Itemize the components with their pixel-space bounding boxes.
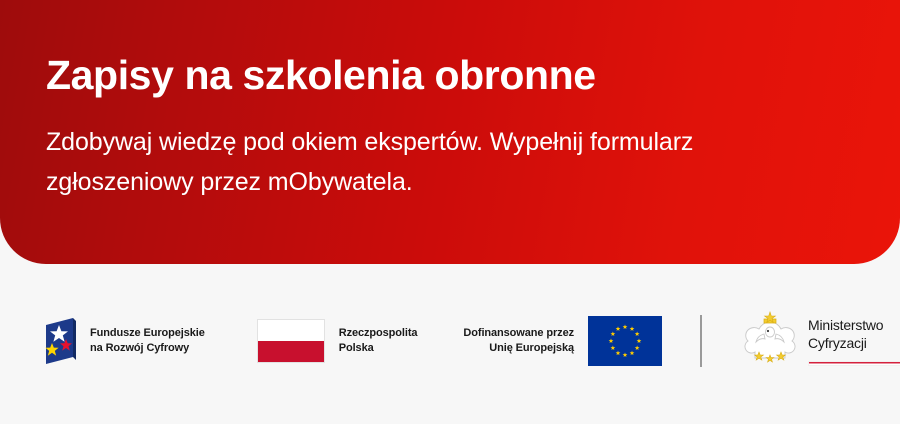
fundusze-europejskie-flag-icon xyxy=(40,316,78,366)
ministry-line2: Cyfryzacji xyxy=(808,334,900,352)
unia-caption: Dofinansowane przez Unię Europejską xyxy=(463,326,574,356)
hero-banner: Zapisy na szkolenia obronne Zdobywaj wie… xyxy=(0,0,900,264)
logo-ministerstwo-cyfryzacji: Ministerstwo Cyfryzacji xyxy=(742,310,900,372)
poland-flag-icon xyxy=(257,319,325,363)
fundusze-line1: Fundusze Europejskie xyxy=(90,326,205,341)
logo-rzeczpospolita-polska: Rzeczpospolita Polska xyxy=(257,310,418,372)
funding-logo-strip: Fundusze Europejskie na Rozwój Cyfrowy R… xyxy=(0,264,900,424)
promo-banner-page: Zapisy na szkolenia obronne Zdobywaj wie… xyxy=(0,0,900,424)
poland-flag-red-stripe xyxy=(258,341,324,362)
fundusze-caption: Fundusze Europejskie na Rozwój Cyfrowy xyxy=(90,326,205,356)
logo-divider xyxy=(700,315,702,367)
hero-subtitle: Zdobywaj wiedzę pod okiem ekspertów. Wyp… xyxy=(46,122,746,202)
rzeczpospolita-line2: Polska xyxy=(339,341,418,356)
rzeczpospolita-caption: Rzeczpospolita Polska xyxy=(339,326,418,356)
ministry-line1: Ministerstwo xyxy=(808,316,900,334)
logo-row: Fundusze Europejskie na Rozwój Cyfrowy R… xyxy=(40,310,900,372)
hero-content: Zapisy na szkolenia obronne Zdobywaj wie… xyxy=(46,50,786,202)
fundusze-line2: na Rozwój Cyfrowy xyxy=(90,341,205,356)
logo-unia-europejska: Dofinansowane przez Unię Europejską xyxy=(463,310,662,372)
logo-fundusze-europejskie: Fundusze Europejskie na Rozwój Cyfrowy xyxy=(40,310,205,372)
unia-line1: Dofinansowane przez xyxy=(463,326,574,341)
european-union-flag-icon xyxy=(588,316,662,366)
hero-title: Zapisy na szkolenia obronne xyxy=(46,50,786,100)
polish-eagle-emblem-icon xyxy=(742,310,798,368)
ministry-accent-bar xyxy=(808,361,900,366)
unia-line2: Unię Europejską xyxy=(463,341,574,356)
rzeczpospolita-line1: Rzeczpospolita xyxy=(339,326,418,341)
poland-flag-white-stripe xyxy=(258,320,324,341)
ministry-caption: Ministerstwo Cyfryzacji xyxy=(808,310,900,366)
